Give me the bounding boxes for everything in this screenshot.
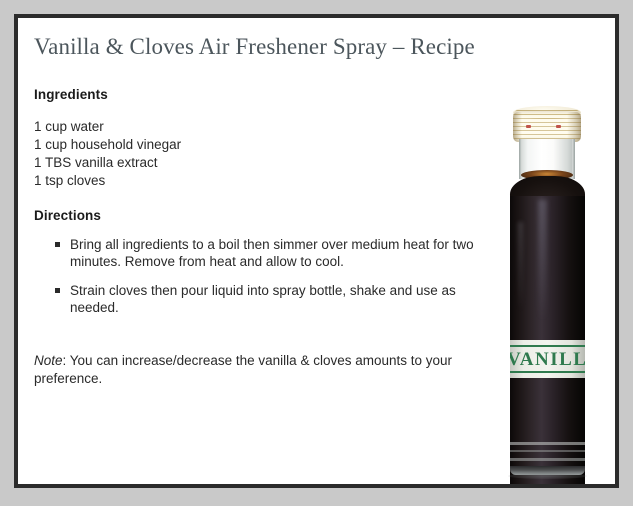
- list-item: Strain cloves then pour liquid into spra…: [70, 282, 480, 316]
- bottle-label-text: VANILLA: [510, 348, 585, 371]
- list-item: Bring all ingredients to a boil then sim…: [70, 236, 480, 270]
- label-rule-top: [510, 345, 585, 347]
- list-item-text: Strain cloves then pour liquid into spra…: [70, 283, 456, 315]
- page-title: Vanilla & Cloves Air Freshener Spray – R…: [34, 34, 475, 60]
- cap-red-mark: [526, 125, 531, 128]
- directions-heading: Directions: [34, 208, 101, 223]
- list-item: 1 tsp cloves: [34, 172, 181, 190]
- list-item: 1 TBS vanilla extract: [34, 154, 181, 172]
- ingredients-list: 1 cup water 1 cup household vinegar 1 TB…: [34, 118, 181, 190]
- cap-shadow-left: [513, 112, 522, 142]
- directions-list: Bring all ingredients to a boil then sim…: [52, 236, 480, 328]
- note-paragraph: Note: You can increase/decrease the vani…: [34, 352, 459, 388]
- list-item: 1 cup water: [34, 118, 181, 136]
- bottle-base-ring: [510, 450, 585, 452]
- cap-shadow-right: [567, 112, 581, 142]
- bottle-base-ring: [510, 458, 585, 461]
- label-rule-bottom: [510, 371, 585, 373]
- note-label: Note: [34, 353, 63, 368]
- cap-red-mark: [556, 125, 561, 128]
- bottle-highlight-secondary: [518, 222, 523, 312]
- recipe-content-area: Vanilla & Cloves Air Freshener Spray – R…: [18, 18, 615, 484]
- bottle-base-ring: [510, 442, 585, 445]
- list-item-text: Bring all ingredients to a boil then sim…: [70, 237, 474, 269]
- vanilla-bottle-image: VANILLA: [480, 92, 615, 484]
- bottle-shadow: [508, 473, 587, 479]
- note-text: : You can increase/decrease the vanilla …: [34, 353, 452, 386]
- ingredients-heading: Ingredients: [34, 87, 108, 102]
- bottle-highlight: [538, 200, 547, 320]
- square-bullet-icon: [55, 288, 60, 293]
- framed-recipe-card: Vanilla & Cloves Air Freshener Spray – R…: [14, 14, 619, 488]
- square-bullet-icon: [55, 242, 60, 247]
- list-item: 1 cup household vinegar: [34, 136, 181, 154]
